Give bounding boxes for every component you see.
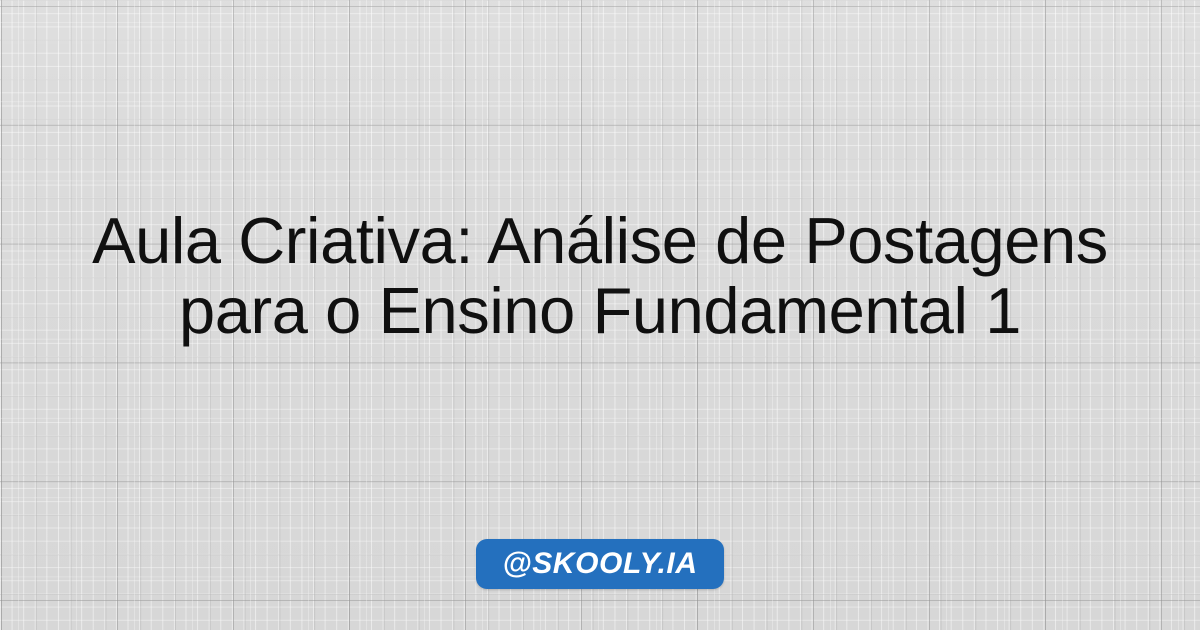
social-share-card: Aula Criativa: Análise de Postagens para…	[0, 0, 1200, 630]
title-container: Aula Criativa: Análise de Postagens para…	[40, 206, 1160, 346]
handle-badge-label: @SKOOLY.IA	[502, 549, 697, 579]
page-title: Aula Criativa: Análise de Postagens para…	[40, 206, 1160, 346]
handle-badge[interactable]: @SKOOLY.IA	[476, 539, 723, 589]
handle-badge-container: @SKOOLY.IA	[0, 539, 1200, 589]
